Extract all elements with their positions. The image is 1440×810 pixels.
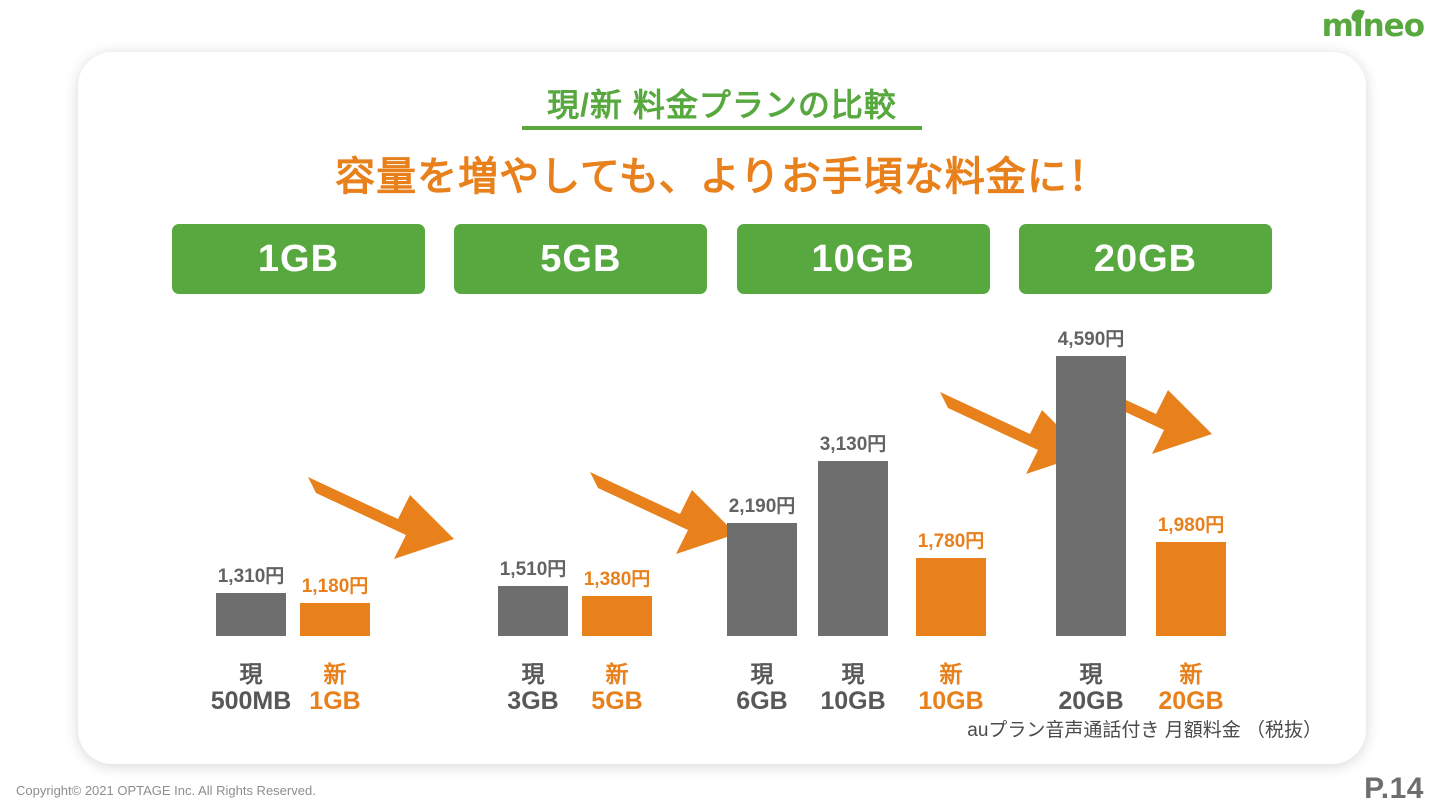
- bar-value: 1,780円: [886, 526, 1016, 553]
- slide-card: 現/新 料金プランの比較 容量を増やしても、よりお手頃な料金に！ 1GB 5GB…: [78, 52, 1366, 764]
- chart-note: auプラン音声通話付き 月額料金 （税抜）: [967, 715, 1322, 742]
- bar-caption-line2: 1GB: [270, 687, 400, 716]
- bar-rect[interactable]: [1056, 356, 1126, 636]
- bar-chart: 1,310円 現 500MB 1,180円 新 1GB 1,510円 現 3GB: [78, 52, 1366, 764]
- bar-value: 1,380円: [552, 564, 682, 591]
- bar-caption: 新 20GB: [1126, 661, 1256, 716]
- bar-caption-line1: 現: [751, 661, 774, 687]
- bar-rect[interactable]: [818, 461, 888, 636]
- bar-value: 2,190円: [697, 491, 827, 518]
- bar-caption-line2: 10GB: [886, 687, 1016, 716]
- bar-caption-line1: 現: [240, 661, 263, 687]
- copyright-text: Copyright© 2021 OPTAGE Inc. All Rights R…: [16, 783, 316, 798]
- bar-value: 1,180円: [270, 571, 400, 598]
- bar-value: 4,590円: [1026, 324, 1156, 351]
- page-number: P.14: [1364, 772, 1424, 806]
- bar-rect[interactable]: [916, 558, 986, 636]
- bar-rect[interactable]: [216, 593, 286, 636]
- bar-value: 3,130円: [788, 429, 918, 456]
- brand-name: mineo: [1306, 4, 1426, 48]
- bar-caption-line2: 20GB: [1126, 687, 1256, 716]
- bar-rect[interactable]: [582, 596, 652, 636]
- bar-caption-line2: 5GB: [552, 687, 682, 716]
- brand-logo: mineo: [1306, 4, 1426, 48]
- bar-caption-line1: 新: [606, 661, 629, 687]
- bar-caption-line1: 現: [522, 661, 545, 687]
- bar-caption-line1: 新: [324, 661, 347, 687]
- bar-rect[interactable]: [300, 603, 370, 636]
- bar-rect[interactable]: [498, 586, 568, 636]
- bar-caption: 新 5GB: [552, 661, 682, 716]
- bar-caption-line1: 新: [1180, 661, 1203, 687]
- arrow-1gb-icon: [302, 467, 462, 577]
- bar-rect[interactable]: [1156, 542, 1226, 636]
- bar-caption: 新 1GB: [270, 661, 400, 716]
- bar-caption-line1: 現: [1080, 661, 1103, 687]
- bar-rect[interactable]: [727, 523, 797, 636]
- bar-caption-line1: 現: [842, 661, 865, 687]
- bar-caption: 新 10GB: [886, 661, 1016, 716]
- bar-caption-line1: 新: [940, 661, 963, 687]
- bar-value: 1,980円: [1126, 510, 1256, 537]
